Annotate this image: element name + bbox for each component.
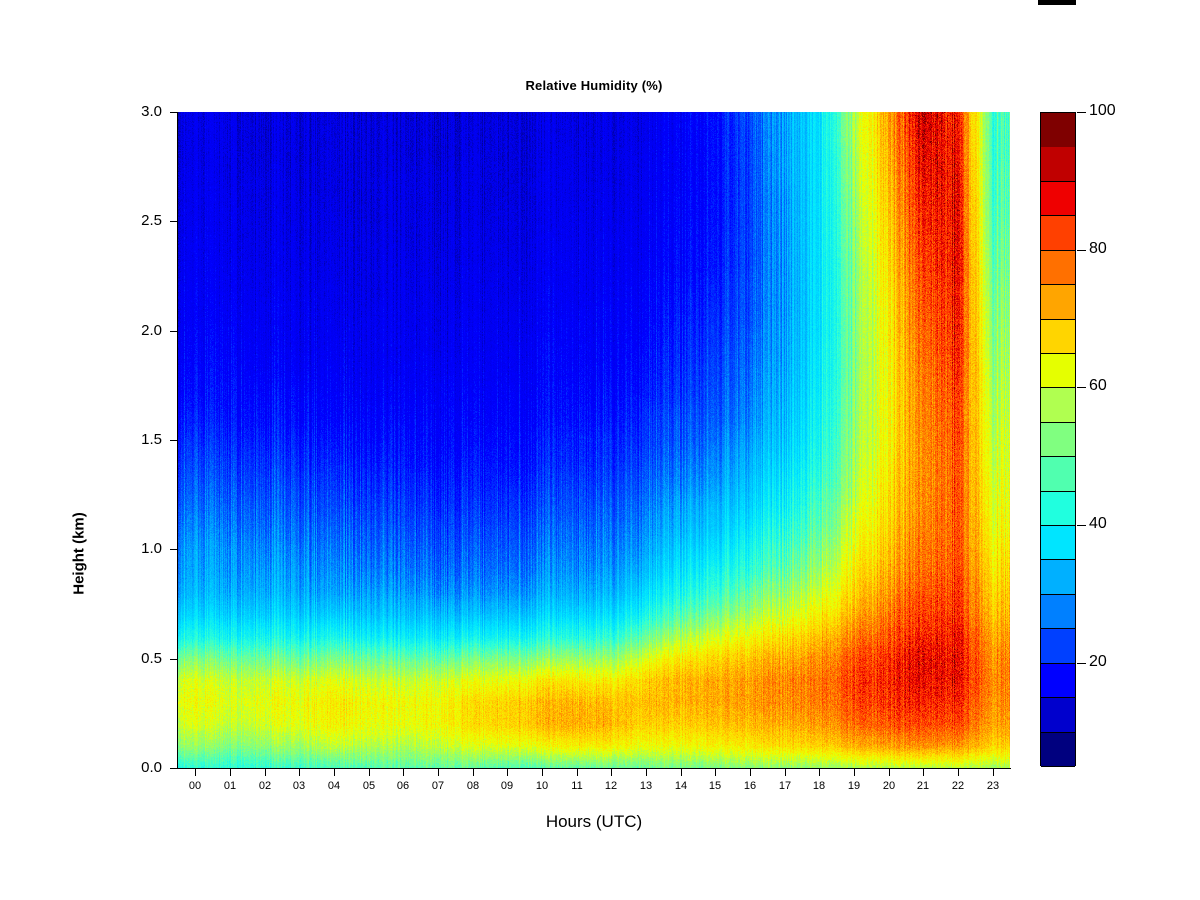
x-tick-label: 02	[250, 780, 280, 792]
colorbar-top-artifact	[1038, 0, 1076, 5]
x-tick-label: 01	[215, 780, 245, 792]
y-tick-label: 1.0	[120, 541, 162, 556]
y-tick	[170, 112, 177, 113]
x-tick-label: 19	[839, 780, 869, 792]
x-tick	[681, 769, 682, 776]
x-tick-label: 22	[943, 780, 973, 792]
x-tick	[265, 769, 266, 776]
colorbar-band	[1041, 423, 1075, 457]
x-tick	[473, 769, 474, 776]
x-tick-label: 13	[631, 780, 661, 792]
x-tick	[750, 769, 751, 776]
x-tick	[785, 769, 786, 776]
x-tick	[542, 769, 543, 776]
x-tick	[923, 769, 924, 776]
colorbar-band	[1041, 629, 1075, 663]
colorbar-legend	[1040, 112, 1076, 766]
x-tick	[334, 769, 335, 776]
y-tick-label: 1.5	[120, 432, 162, 447]
colorbar-band	[1041, 216, 1075, 250]
colorbar-band	[1041, 113, 1075, 147]
y-tick	[170, 768, 177, 769]
x-tick-label: 12	[596, 780, 626, 792]
x-tick-label: 04	[319, 780, 349, 792]
colorbar-tick	[1077, 525, 1086, 526]
colorbar-band	[1041, 182, 1075, 216]
figure-canvas: Relative Humidity (%) 0.00.51.01.52.02.5…	[0, 0, 1200, 900]
y-tick	[170, 549, 177, 550]
y-axis-line	[177, 112, 178, 769]
colorbar-band	[1041, 251, 1075, 285]
x-tick-label: 11	[562, 780, 592, 792]
x-tick	[993, 769, 994, 776]
x-tick-label: 05	[354, 780, 384, 792]
x-tick-label: 16	[735, 780, 765, 792]
colorbar-band	[1041, 698, 1075, 732]
x-tick-label: 03	[284, 780, 314, 792]
x-tick-label: 20	[874, 780, 904, 792]
colorbar-tick	[1077, 663, 1086, 664]
colorbar-tick-label: 80	[1089, 241, 1135, 257]
y-tick	[170, 221, 177, 222]
colorbar-tick	[1077, 250, 1086, 251]
y-tick-label: 2.5	[120, 213, 162, 228]
colorbar-band	[1041, 147, 1075, 181]
colorbar-band	[1041, 595, 1075, 629]
colorbar-band	[1041, 388, 1075, 422]
colorbar-tick-label: 60	[1089, 378, 1135, 394]
x-tick-label: 00	[180, 780, 210, 792]
y-tick	[170, 331, 177, 332]
x-tick-label: 14	[666, 780, 696, 792]
y-tick-label: 0.0	[120, 760, 162, 775]
page-title: Relative Humidity (%)	[178, 78, 1010, 93]
y-tick	[170, 659, 177, 660]
x-tick	[958, 769, 959, 776]
colorbar-band	[1041, 664, 1075, 698]
x-tick	[195, 769, 196, 776]
y-tick-label: 3.0	[120, 104, 162, 119]
colorbar-tick-label: 20	[1089, 654, 1135, 670]
x-tick	[369, 769, 370, 776]
x-tick	[438, 769, 439, 776]
x-tick	[819, 769, 820, 776]
colorbar-band	[1041, 354, 1075, 388]
x-tick-label: 15	[700, 780, 730, 792]
y-tick-label: 0.5	[120, 651, 162, 666]
x-tick-label: 18	[804, 780, 834, 792]
colorbar-band	[1041, 320, 1075, 354]
x-tick	[889, 769, 890, 776]
x-tick-label: 07	[423, 780, 453, 792]
colorbar-band	[1041, 733, 1075, 767]
x-tick	[577, 769, 578, 776]
colorbar-tick-label: 100	[1089, 103, 1135, 119]
x-tick-label: 09	[492, 780, 522, 792]
heatmap-plot-area	[178, 112, 1010, 768]
colorbar-band	[1041, 457, 1075, 491]
x-axis-title: Hours (UTC)	[444, 812, 744, 832]
y-axis-title: Height (km)	[71, 474, 88, 634]
colorbar-band	[1041, 560, 1075, 594]
x-tick-label: 23	[978, 780, 1008, 792]
x-tick	[507, 769, 508, 776]
x-tick-label: 17	[770, 780, 800, 792]
x-tick	[403, 769, 404, 776]
x-tick	[230, 769, 231, 776]
y-tick-label: 2.0	[120, 323, 162, 338]
relative-humidity-heatmap	[178, 112, 1010, 768]
y-tick	[170, 440, 177, 441]
colorbar-tick	[1077, 112, 1086, 113]
x-tick-label: 21	[908, 780, 938, 792]
x-tick	[299, 769, 300, 776]
x-tick	[854, 769, 855, 776]
x-tick-label: 08	[458, 780, 488, 792]
colorbar-band	[1041, 526, 1075, 560]
x-tick	[611, 769, 612, 776]
x-tick-label: 06	[388, 780, 418, 792]
colorbar-band	[1041, 492, 1075, 526]
heatmap-raster	[178, 112, 1010, 768]
x-axis-line	[178, 768, 1011, 769]
x-tick	[715, 769, 716, 776]
colorbar-band	[1041, 285, 1075, 319]
x-tick	[646, 769, 647, 776]
x-tick-label: 10	[527, 780, 557, 792]
colorbar-tick	[1077, 387, 1086, 388]
colorbar-tick-label: 40	[1089, 516, 1135, 532]
